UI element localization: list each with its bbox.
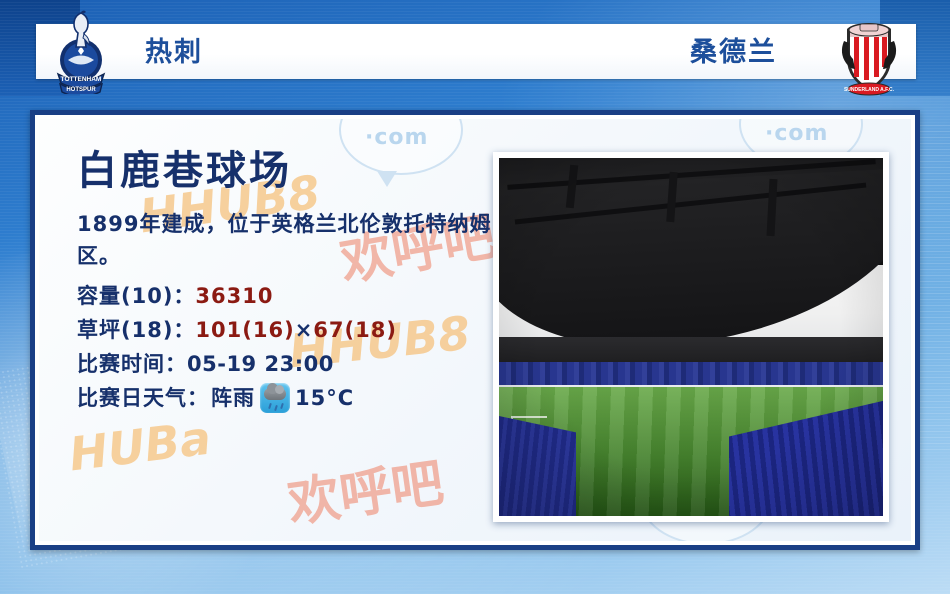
- watermark-com-2: ·com: [765, 121, 828, 146]
- info-card: ·com ·com ·com HHUB8 HHUB8 HUBa 欢呼吧 欢呼吧 …: [30, 110, 920, 550]
- weather-temperature: 15°C: [295, 381, 354, 415]
- weather-row: 比赛日天气：阵雨15°C: [77, 381, 497, 415]
- sunderland-afc-crest: SUNDERLAND A.F.C.: [836, 14, 902, 100]
- pitch-width-value: 67(18): [313, 318, 397, 342]
- pitch-length-value: 101(16): [195, 318, 294, 342]
- venue-title: 白鹿巷球场: [77, 151, 497, 191]
- capacity-value: 36310: [195, 284, 273, 308]
- info-card-inner: ·com ·com ·com HHUB8 HHUB8 HUBa 欢呼吧 欢呼吧 …: [39, 119, 911, 541]
- venue-description: 1899年建成，位于英格兰北伦敦托特纳姆区。: [77, 209, 497, 273]
- stadium-photo-frame: [493, 152, 889, 522]
- venue-info-block: 白鹿巷球场 1899年建成，位于英格兰北伦敦托特纳姆区。 容量(10)：3631…: [77, 151, 497, 415]
- pitch-label: 草坪(18)：: [77, 318, 195, 342]
- watermark-brand-3: HUBa: [66, 411, 213, 482]
- capacity-row: 容量(10)：36310: [77, 279, 497, 313]
- watermark-com-1: ·com: [365, 125, 428, 150]
- weather-label: 比赛日天气：: [77, 381, 209, 415]
- pitch-row: 草坪(18)：101(16)×67(18): [77, 313, 497, 347]
- kickoff-label: 比赛时间：: [77, 352, 187, 376]
- shower-rain-icon: [260, 383, 290, 413]
- weather-condition: 阵雨: [211, 381, 255, 415]
- tottenham-hotspur-crest: TOTTENHAM HOTSPUR: [48, 8, 114, 94]
- pitch-separator: ×: [295, 318, 314, 342]
- svg-text:TOTTENHAM: TOTTENHAM: [61, 76, 102, 83]
- photo-vignette: [499, 158, 883, 516]
- kickoff-value: 05-19 23:00: [187, 352, 334, 376]
- capacity-label: 容量(10)：: [77, 284, 195, 308]
- kickoff-row: 比赛时间：05-19 23:00: [77, 347, 497, 381]
- watermark-cn-2: 欢呼吧: [283, 441, 448, 537]
- stadium-photo: [499, 158, 883, 516]
- stadium-info-card-screen: TOTTENHAM HOTSPUR 热刺 桑德兰 SUNDERLAND A.F.…: [0, 0, 950, 594]
- svg-text:SUNDERLAND A.F.C.: SUNDERLAND A.F.C.: [844, 87, 895, 93]
- home-team-name: 热刺: [145, 30, 203, 69]
- svg-text:HOTSPUR: HOTSPUR: [66, 87, 96, 93]
- away-team-name: 桑德兰: [690, 30, 777, 69]
